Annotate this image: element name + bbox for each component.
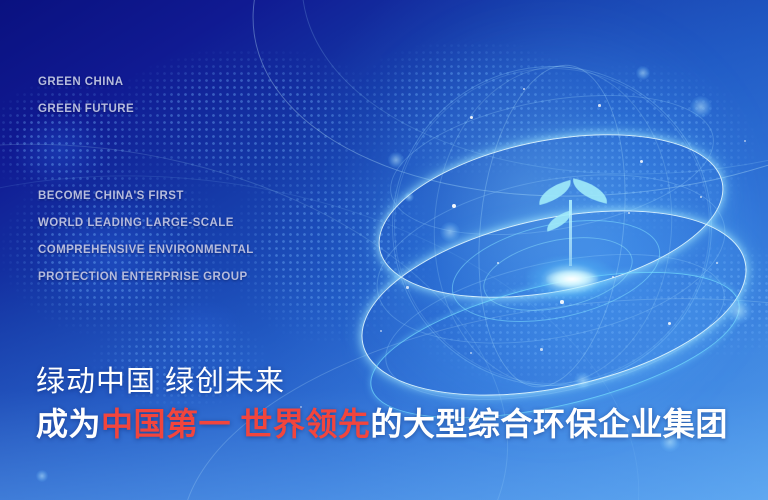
tagline-top-line-1: GREEN CHINA	[38, 69, 134, 96]
headline-line-2: 成为中国第一 世界领先的大型综合环保企业集团	[36, 402, 728, 446]
tagline-top-line-2: GREEN FUTURE	[38, 96, 134, 123]
tagline-mid-line-1: BECOME CHINA'S FIRST	[38, 183, 254, 210]
tagline-mid-line-2: WORLD LEADING LARGE-SCALE	[38, 210, 254, 237]
tagline-top: GREEN CHINA GREEN FUTURE	[38, 69, 134, 123]
tagline-mid: BECOME CHINA'S FIRST WORLD LEADING LARGE…	[38, 183, 254, 291]
headline-accent: 中国第一 世界领先	[101, 406, 370, 442]
hero-banner: GREEN CHINA GREEN FUTURE BECOME CHINA'S …	[0, 0, 768, 500]
headline-line-2-suffix: 的大型综合环保企业集团	[370, 406, 728, 442]
tagline-mid-line-3: COMPREHENSIVE ENVIRONMENTAL	[38, 237, 254, 264]
tagline-mid-line-4: PROTECTION ENTERPRISE GROUP	[38, 264, 254, 291]
headline-line-1: 绿动中国 绿创未来	[36, 362, 728, 402]
headline-line-2-prefix: 成为	[36, 406, 101, 442]
headline: 绿动中国 绿创未来 成为中国第一 世界领先的大型综合环保企业集团	[36, 362, 728, 446]
